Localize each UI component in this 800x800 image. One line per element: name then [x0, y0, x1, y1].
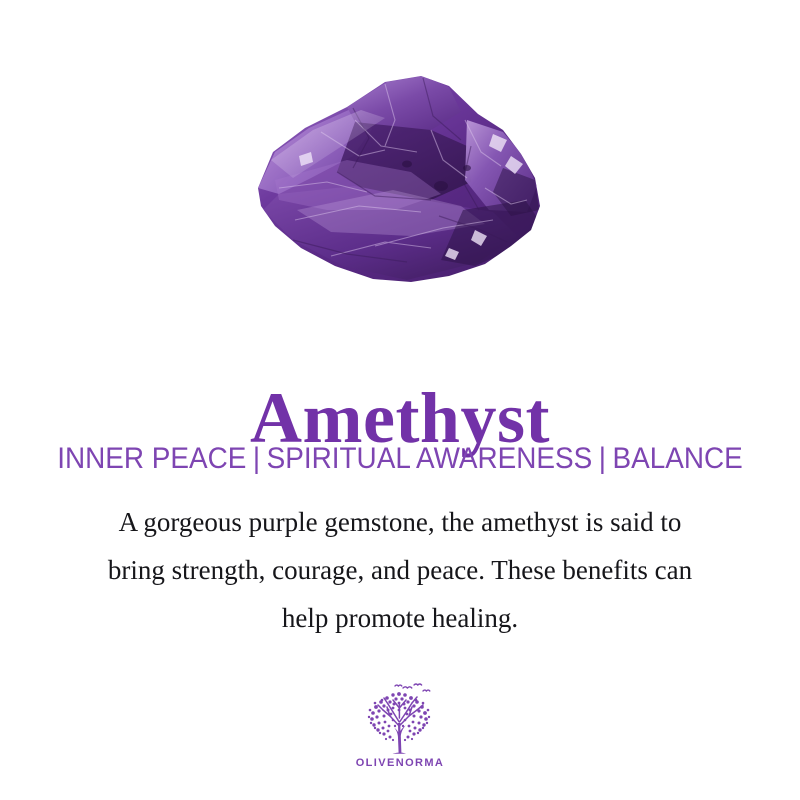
hero-image-container [0, 60, 800, 310]
brand-logo[interactable]: OLIVENORMA [0, 682, 800, 769]
description-line: help promote healing. [50, 594, 750, 642]
brand-name: OLIVENORMA [0, 757, 800, 769]
description-line: bring strength, courage, and peace. Thes… [50, 546, 750, 594]
olive-tree-logo-icon [357, 682, 443, 756]
raw-amethyst-gemstone-icon [235, 60, 565, 290]
description-line: A gorgeous purple gemstone, the amethyst… [50, 498, 750, 546]
keyword-inner-peace: INNER PEACE [57, 442, 246, 475]
keyword-row: INNER PEACE|SPIRITUAL AWARENESS|BALANCE [28, 440, 772, 478]
keyword-separator: | [246, 442, 266, 475]
keyword-spiritual-awareness: SPIRITUAL AWARENESS [267, 442, 593, 475]
keyword-balance: BALANCE [613, 442, 743, 475]
birds-icon [395, 684, 430, 691]
keyword-separator: | [592, 442, 612, 475]
amethyst-info-card: Amethyst INNER PEACE|SPIRITUAL AWARENESS… [0, 0, 800, 800]
description-text: A gorgeous purple gemstone, the amethyst… [50, 498, 750, 642]
stone-facets [258, 76, 539, 280]
